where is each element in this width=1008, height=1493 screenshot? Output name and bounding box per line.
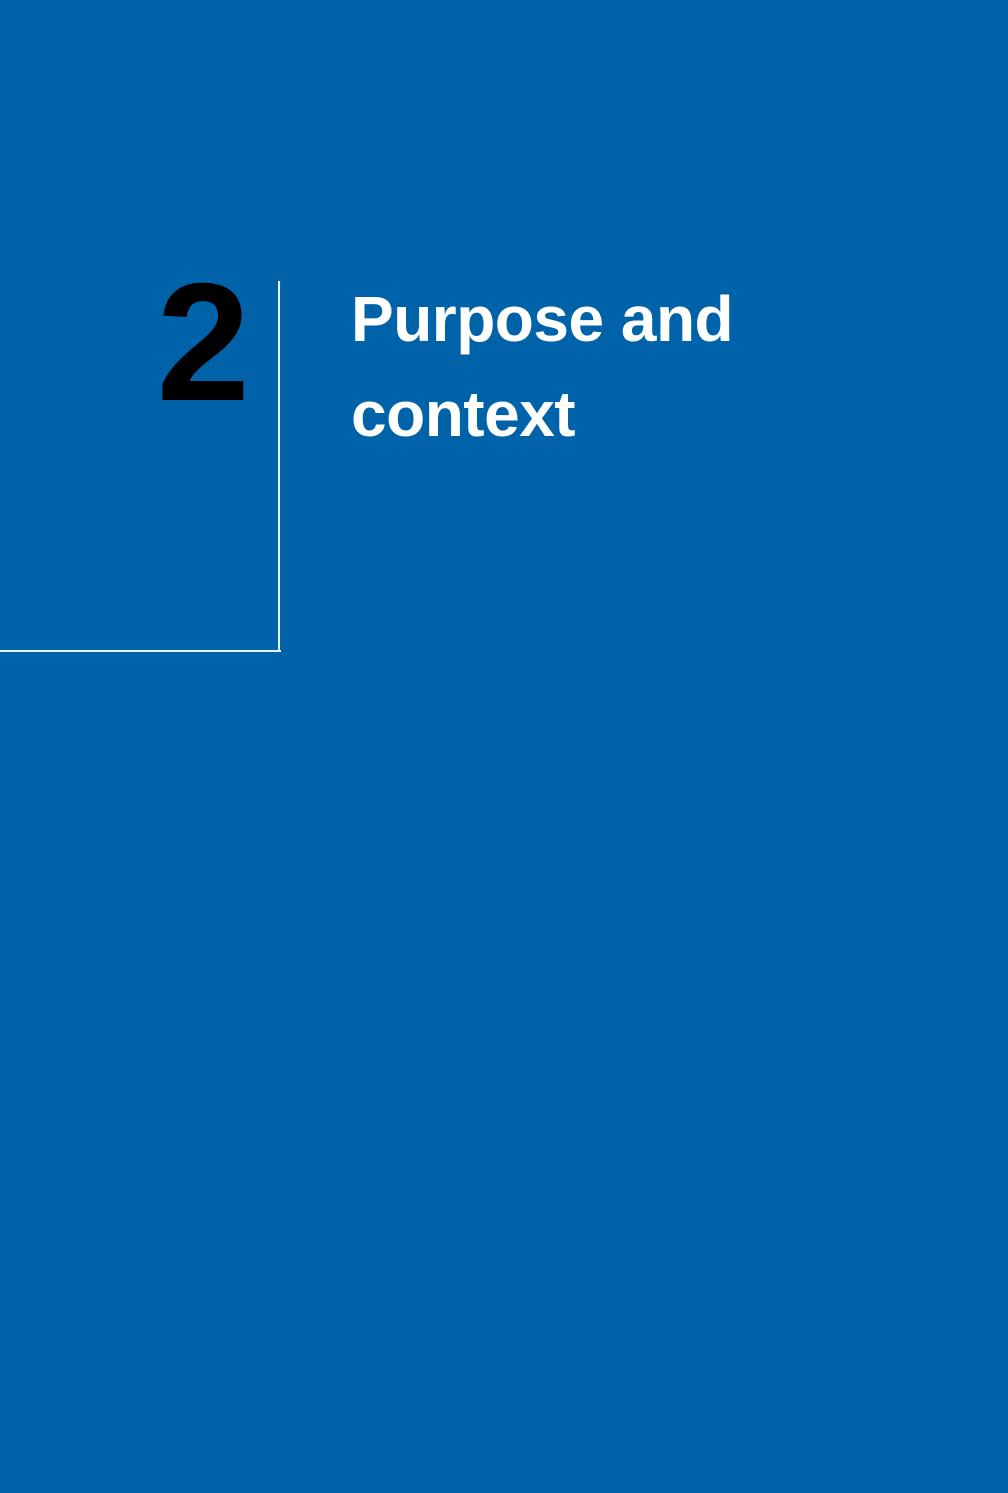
horizontal-divider-rule — [0, 650, 281, 652]
chapter-title: Purpose and context — [351, 272, 911, 462]
chapter-number: 2 — [0, 258, 248, 426]
vertical-divider-rule — [278, 281, 280, 652]
chapter-divider-page: 2 Purpose and context — [0, 0, 1008, 1493]
chapter-title-line-2: context — [351, 367, 911, 462]
chapter-title-line-1: Purpose and — [351, 272, 911, 367]
